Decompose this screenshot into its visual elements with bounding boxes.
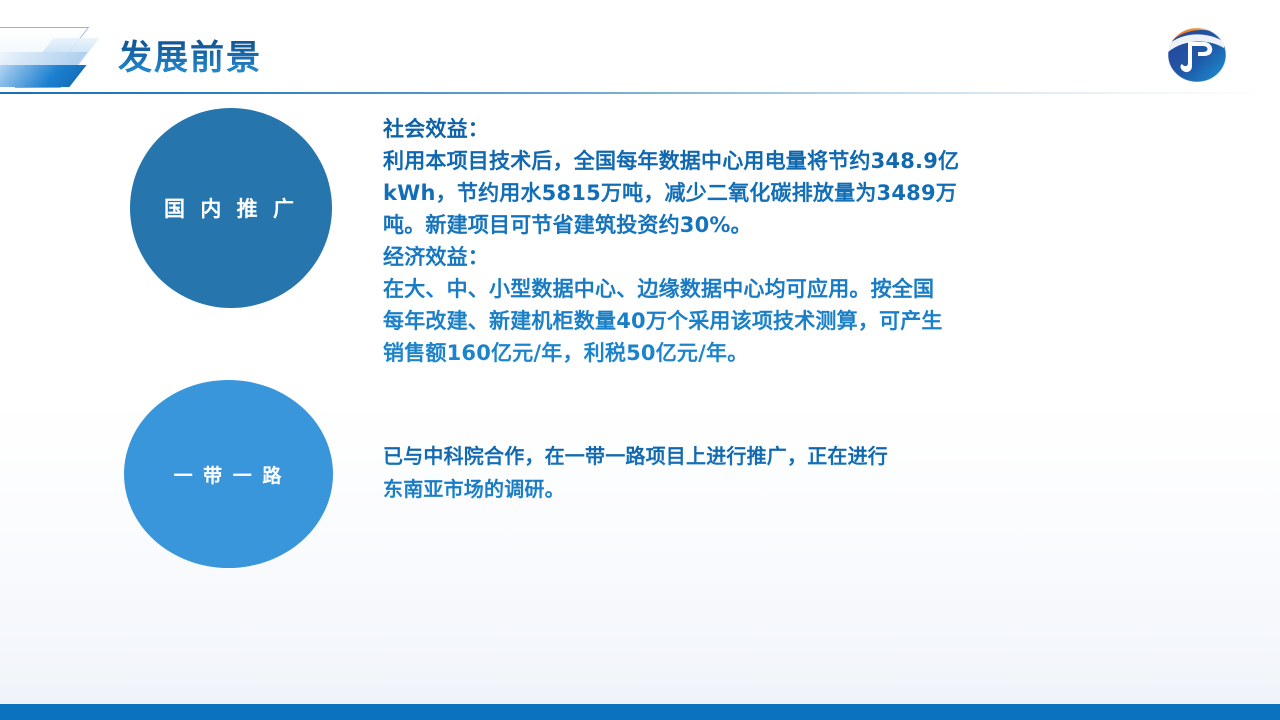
header-parallelogram-solid <box>0 65 87 87</box>
header-parallelogram-light <box>0 52 87 66</box>
belt-and-road-text-block: 已与中科院合作，在一带一路项目上进行推广，正在进行 东南亚市场的调研。 <box>383 440 1043 506</box>
text-line: 经济效益： <box>383 241 1063 273</box>
benefits-text-block: 社会效益： 利用本项目技术后，全国每年数据中心用电量将节约348.9亿 kWh，… <box>383 113 1063 369</box>
circle-label: 国 内 推 广 <box>164 193 298 223</box>
text-line: 销售额160亿元/年，利税50亿元/年。 <box>383 337 1063 369</box>
text-line: 每年改建、新建机柜数量40万个采用该项技术测算，可产生 <box>383 305 1063 337</box>
text-line: 利用本项目技术后，全国每年数据中心用电量将节约348.9亿 <box>383 145 1063 177</box>
circle-domestic-promotion: 国 内 推 广 <box>130 108 332 308</box>
text-line: 社会效益： <box>383 113 1063 145</box>
text-line: 东南亚市场的调研。 <box>383 473 1043 506</box>
page-title: 发展前景 <box>118 36 262 80</box>
text-line: kWh，节约用水5815万吨，减少二氧化碳排放量为3489万 <box>383 177 1063 209</box>
company-logo-icon <box>1166 26 1228 84</box>
footer-bar <box>0 704 1280 720</box>
slide-canvas: 发展前景 <box>0 0 1280 720</box>
circle-label: 一 带 一 路 <box>174 461 284 488</box>
text-line: 已与中科院合作，在一带一路项目上进行推广，正在进行 <box>383 440 1043 473</box>
text-line: 在大、中、小型数据中心、边缘数据中心均可应用。按全国 <box>383 273 1063 305</box>
circle-belt-and-road: 一 带 一 路 <box>124 380 333 568</box>
header-divider <box>0 92 1280 94</box>
slide-header: 发展前景 <box>0 0 1280 96</box>
text-line: 吨。新建项目可节省建筑投资约30%。 <box>383 209 1063 241</box>
